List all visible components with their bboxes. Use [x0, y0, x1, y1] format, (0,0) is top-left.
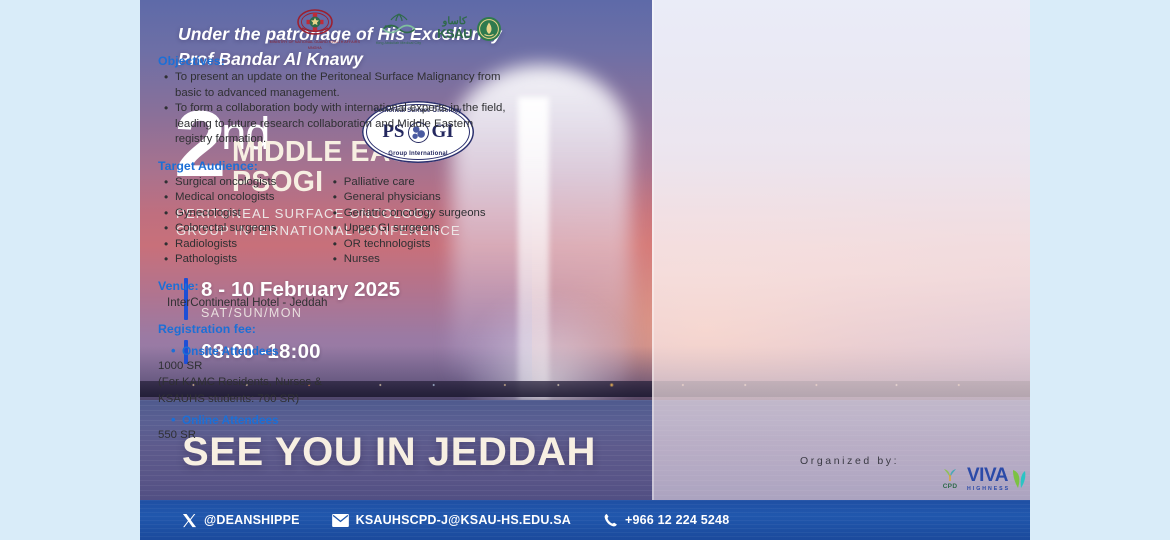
onsite-price: 1000 SR: [158, 359, 510, 375]
ksau-wordmark: KSAU: [437, 27, 472, 41]
phone-number: +966 12 224 5248: [625, 513, 729, 527]
envelope-icon: [332, 514, 349, 527]
audience-item: Gynecologist: [175, 206, 327, 222]
objectives-list: To present an update on the Peritoneal S…: [158, 70, 510, 148]
x-handle-item[interactable]: @DEANSHIPPE: [182, 513, 300, 528]
target-audience-heading: Target Audience:: [158, 159, 510, 173]
contact-bar: @DEANSHIPPE KSAUHSCPD-J@KSAU-HS.EDU.SA +…: [140, 500, 1030, 540]
x-twitter-icon: [182, 513, 197, 528]
x-handle: @DEANSHIPPE: [204, 513, 300, 527]
audience-item: Upper GI surgeons: [344, 221, 510, 237]
audience-item: Colorectal surgeons: [175, 221, 327, 237]
ksau-hs-logo: كاساو KSAU: [437, 16, 502, 42]
audience-item: Nurses: [344, 252, 510, 268]
objectives-heading: Objectives:: [158, 54, 510, 68]
viva-wordmark: VIVA: [967, 466, 1010, 485]
cpd-leaf-icon: [940, 466, 960, 482]
kamc-caption: King Abdullah Medical City: [376, 41, 421, 45]
viva-leaf-icon: [1012, 469, 1026, 489]
conference-poster: Under the patronage of His Excellency Pr…: [140, 0, 1030, 540]
viva-highness-logo: VIVA HIGHNESS: [967, 466, 1026, 492]
target-audience-block: Target Audience: Surgical oncologists Me…: [158, 159, 510, 268]
registration-fee-heading: Registration fee:: [158, 322, 510, 336]
venue-heading: Venue:: [158, 279, 510, 293]
cpd-logo: CPD: [940, 466, 960, 490]
audience-item: Radiologists: [175, 237, 327, 253]
info-panel-overlay: [652, 0, 1030, 500]
audience-item: OR technologists: [344, 237, 510, 253]
phone-icon: [603, 513, 618, 528]
mngha-crest-icon: [295, 8, 335, 38]
audience-item: Geriatric oncology surgeons: [344, 206, 510, 222]
mngha-caption-2: MNGHA: [308, 46, 322, 50]
phone-item[interactable]: +966 12 224 5248: [603, 513, 729, 528]
objective-item: To present an update on the Peritoneal S…: [175, 70, 510, 101]
objective-item: To form a collaboration body with intern…: [175, 101, 510, 148]
screenshot-canvas: Under the patronage of His Excellency Pr…: [0, 0, 1170, 540]
email-item[interactable]: KSAUHSCPD-J@KSAU-HS.EDU.SA: [332, 513, 571, 527]
mngha-caption: MINISTRY OF NATIONAL GUARD HEALTH AFFAIR…: [270, 40, 360, 44]
panel-divider: [652, 0, 654, 500]
audience-item: Surgical oncologists: [175, 175, 327, 191]
cpd-wordmark: CPD: [943, 483, 958, 490]
audience-item: Palliative care: [344, 175, 510, 191]
onsite-note-line-1: (For KAMC Residents, Nurses &: [158, 375, 510, 391]
audience-item: Pathologists: [175, 252, 327, 268]
mngha-logo: MINISTRY OF NATIONAL GUARD HEALTH AFFAIR…: [270, 8, 360, 51]
email-address: KSAUHSCPD-J@KSAU-HS.EDU.SA: [356, 513, 571, 527]
objectives-block: Objectives: To present an update on the …: [158, 54, 510, 148]
onsite-attendees-label: Onsite Attendees: [182, 344, 510, 358]
online-attendees-label: Online Attendees: [182, 413, 510, 427]
target-audience-columns: Surgical oncologists Medical oncologists…: [158, 175, 510, 268]
viva-sub-wordmark: HIGHNESS: [967, 486, 1010, 492]
audience-item: General physicians: [344, 190, 510, 206]
partner-logos: MINISTRY OF NATIONAL GUARD HEALTH AFFAIR…: [172, 6, 502, 52]
organized-by-label: Organized by:: [800, 455, 899, 467]
venue-block: Venue: InterContinental Hotel - Jeddah: [158, 279, 510, 311]
target-audience-column-right: Palliative care General physicians Geria…: [327, 175, 510, 268]
audience-item: Medical oncologists: [175, 190, 327, 206]
online-price: 550 SR: [158, 428, 510, 444]
registration-fee-block: Registration fee: Onsite Attendees 1000 …: [158, 322, 510, 444]
venue-value: InterContinental Hotel - Jeddah: [167, 295, 510, 311]
panel-content: Objectives: To present an update on the …: [158, 54, 510, 455]
target-audience-column-left: Surgical oncologists Medical oncologists…: [158, 175, 327, 268]
king-abdullah-medical-city-logo: King Abdullah Medical City: [376, 13, 421, 45]
onsite-note-line-2: KSAUHS students: 700 SR): [158, 392, 510, 408]
ksau-seal-icon: [476, 16, 502, 42]
kamc-palm-swoosh-icon: [377, 13, 421, 39]
